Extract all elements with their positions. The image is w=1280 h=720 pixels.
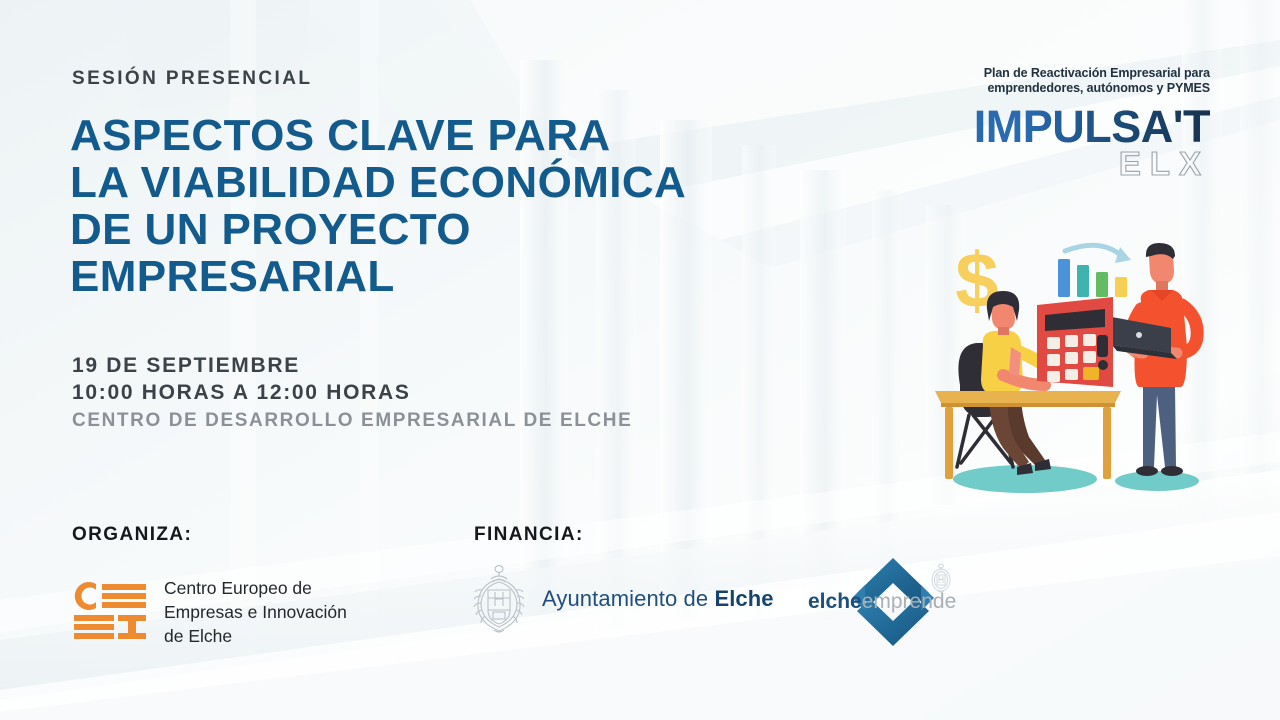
headline-line-1: ASPECTOS CLAVE PARA	[70, 112, 686, 159]
ceei-name: Centro Europeo de Empresas e Innovación …	[164, 576, 347, 648]
floor-shadow-right	[1115, 471, 1199, 491]
brand-tagline-line-1: Plan de Reactivación Empresarial para	[910, 66, 1210, 81]
eyebrow-label: SESIÓN PRESENCIAL	[72, 68, 312, 90]
event-date: 19 DE SEPTIEMBRE	[72, 352, 632, 379]
ceei-name-line-1: Centro Europeo de	[164, 576, 347, 600]
ceei-mark-icon	[72, 581, 148, 643]
organiza-label-wrap: ORGANIZA:	[72, 524, 192, 546]
emprende-wordmark-light: emprende	[862, 590, 957, 613]
event-time: 10:00 HORAS A 12:00 HORAS	[72, 379, 632, 406]
calculator-icon	[1037, 297, 1113, 387]
emprende-wordmark: elcheemprende	[808, 590, 956, 614]
headline-line-3: DE UN PROYECTO	[70, 206, 686, 253]
page-title: ASPECTOS CLAVE PARA LA VIABILIDAD ECONÓM…	[70, 112, 686, 300]
elche-coat-of-arms-icon	[470, 562, 528, 636]
financia-label-wrap: FINANCIA:	[474, 524, 584, 546]
elche-emprende-logo[interactable]: elcheemprende	[800, 552, 970, 652]
headline-line-2: LA VIABILIDAD ECONÓMICA	[70, 159, 686, 206]
impulsat-brand-block: Plan de Reactivación Empresarial para em…	[910, 66, 1210, 182]
brand-wordmark: IMPULSA'T	[910, 104, 1210, 150]
organiza-label: ORGANIZA:	[72, 524, 192, 545]
ceei-name-line-2: Empresas e Innovación	[164, 600, 347, 624]
ayuntamiento-name: Ayuntamiento de Elche	[542, 586, 774, 612]
ayuntamiento-name-regular: Ayuntamiento de	[542, 586, 714, 611]
brand-tagline: Plan de Reactivación Empresarial para em…	[910, 66, 1210, 96]
brand-tagline-line-2: emprendedores, autónomos y PYMES	[910, 81, 1210, 96]
ceei-logo[interactable]: Centro Europeo de Empresas e Innovación …	[72, 576, 347, 648]
event-venue: CENTRO DE DESARROLLO EMPRESARIAL DE ELCH…	[72, 407, 632, 434]
emprende-wordmark-bold: elche	[808, 590, 862, 613]
financia-label: FINANCIA:	[474, 524, 584, 545]
poster-canvas: SESIÓN PRESENCIAL ASPECTOS CLAVE PARA LA…	[0, 0, 1280, 720]
bar-chart-graphic	[1058, 245, 1131, 297]
ayuntamiento-logo[interactable]: Ayuntamiento de Elche	[470, 562, 774, 636]
ayuntamiento-name-bold: Elche	[714, 586, 773, 611]
headline-line-4: EMPRESARIAL	[70, 253, 686, 300]
ceei-name-line-3: de Elche	[164, 624, 347, 648]
business-illustration: $	[925, 235, 1225, 510]
event-details: 19 DE SEPTIEMBRE 10:00 HORAS A 12:00 HOR…	[72, 352, 632, 434]
